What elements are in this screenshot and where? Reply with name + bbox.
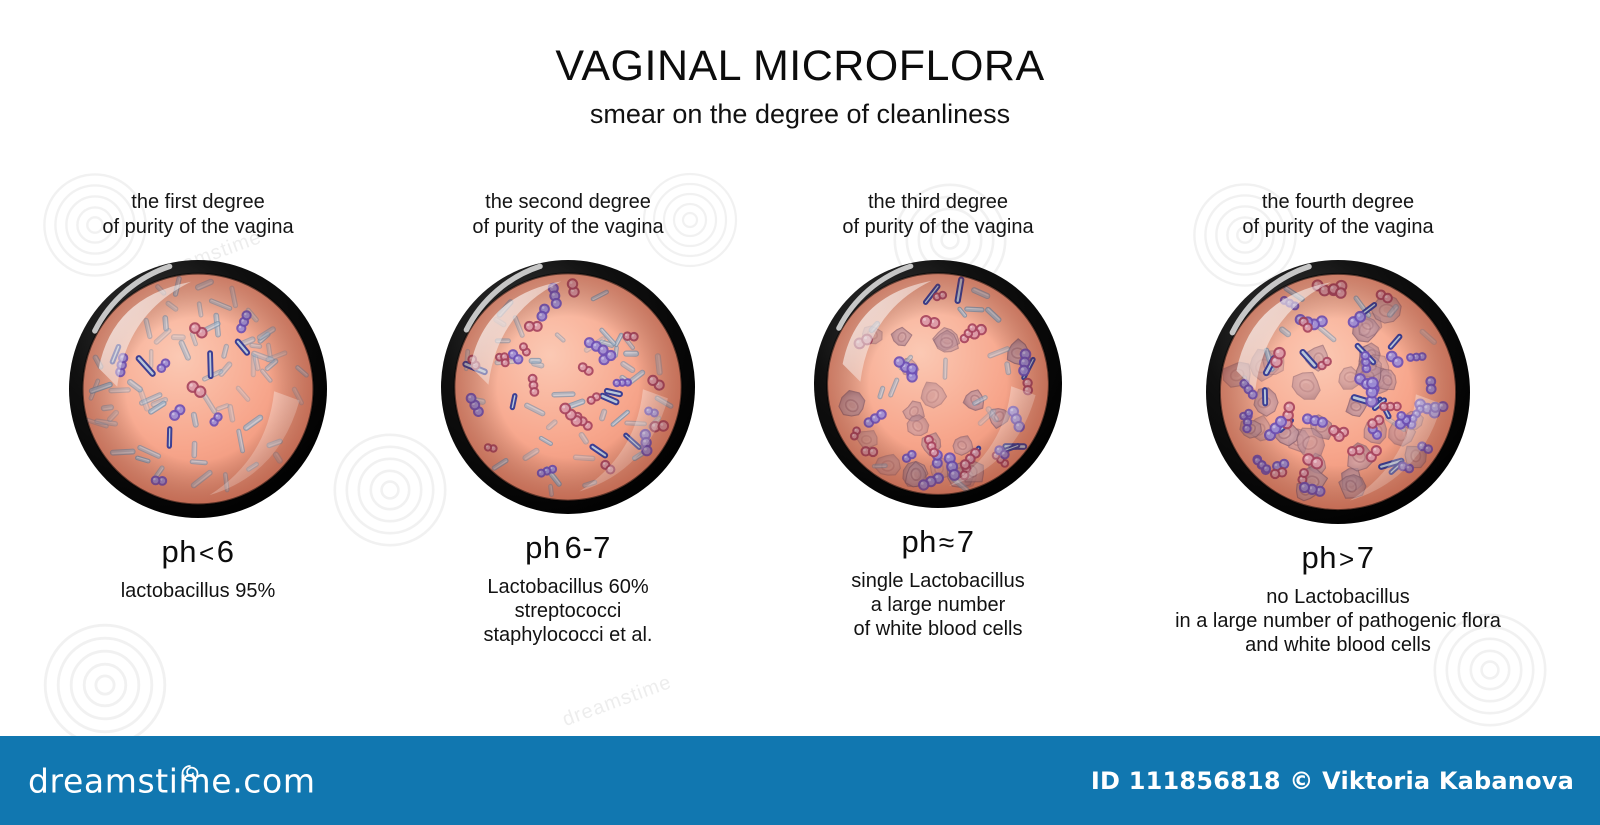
ph-value-line: ph < 6 (42, 534, 354, 570)
panel-third-degree: the third degree of purity of the vagina… (782, 190, 1094, 641)
ph-label: ph (1302, 540, 1337, 576)
page-title: VAGINAL MICROFLORA (0, 44, 1600, 89)
panel-heading-line1: the third degree (782, 190, 1094, 215)
panel-caption: single Lactobacillus a large number of w… (782, 569, 1094, 641)
panel-caption: lactobacillus 95% (42, 579, 354, 603)
ph-operator: < (199, 538, 215, 569)
panel-row: the first degree of purity of the vagina… (0, 190, 1600, 690)
caption-line: streptococci (412, 599, 724, 623)
ph-number: 7 (957, 524, 975, 560)
caption-line: Lactobacillus 60% (412, 575, 724, 599)
ph-value-line: ph > 7 (1150, 540, 1526, 576)
page-subtitle: smear on the degree of cleanliness (0, 99, 1600, 130)
title-block: VAGINAL MICROFLORA smear on the degree o… (0, 44, 1600, 130)
panel-heading-line1: the fourth degree (1150, 190, 1526, 215)
panel-first-degree: the first degree of purity of the vagina… (42, 190, 354, 603)
microscope-view-fourth-degree (1150, 258, 1526, 526)
caption-line: in a large number of pathogenic flora (1150, 609, 1526, 633)
ph-operator: ≈ (939, 527, 955, 559)
ph-label: ph (525, 530, 560, 566)
ph-number: 7 (1357, 540, 1375, 576)
ph-number: 6-7 (565, 530, 611, 566)
caption-line: of white blood cells (782, 617, 1094, 641)
ph-value-line: ph 6-7 (412, 530, 724, 566)
microscope-view-third-degree (782, 258, 1094, 510)
caption-line: single Lactobacillus (782, 569, 1094, 593)
caption-line: staphylococci et al. (412, 623, 724, 647)
caption-line: lactobacillus 95% (42, 579, 354, 603)
footer-bar: dreamstime.com ID 111856818 © Viktoria K… (0, 736, 1600, 825)
image-credit: ID 111856818 © Viktoria Kabanova (1091, 767, 1574, 795)
panel-heading-line2: of purity of the vagina (42, 215, 354, 240)
ph-value-line: ph ≈ 7 (782, 524, 1094, 560)
panel-heading-line2: of purity of the vagina (782, 215, 1094, 240)
panel-heading: the third degree of purity of the vagina (782, 190, 1094, 240)
panel-heading-line1: the second degree (412, 190, 724, 215)
panel-second-degree: the second degree of purity of the vagin… (412, 190, 724, 647)
ph-number: 6 (217, 534, 235, 570)
panel-caption: Lactobacillus 60% streptococci staphyloc… (412, 575, 724, 647)
spiral-logo-icon (180, 763, 200, 788)
panel-heading-line2: of purity of the vagina (1150, 215, 1526, 240)
microscope-view-first-degree (42, 258, 354, 520)
ph-label: ph (901, 524, 936, 560)
panel-heading-line2: of purity of the vagina (412, 215, 724, 240)
illustration-canvas: dreamstime dreamstime dreamstime VAGINAL… (0, 0, 1600, 825)
panel-caption: no Lactobacillus in a large number of pa… (1150, 585, 1526, 657)
ph-label: ph (162, 534, 197, 570)
brand-label: dreamstime.com (28, 761, 316, 800)
panel-heading: the fourth degree of purity of the vagin… (1150, 190, 1526, 240)
microscope-view-second-degree (412, 258, 724, 516)
ph-operator: > (1339, 544, 1355, 575)
caption-line: a large number (782, 593, 1094, 617)
caption-line: and white blood cells (1150, 633, 1526, 657)
dreamstime-logo[interactable]: dreamstime.com (28, 761, 316, 800)
panel-fourth-degree: the fourth degree of purity of the vagin… (1150, 190, 1526, 657)
panel-heading: the first degree of purity of the vagina (42, 190, 354, 240)
caption-line: no Lactobacillus (1150, 585, 1526, 609)
panel-heading-line1: the first degree (42, 190, 354, 215)
panel-heading: the second degree of purity of the vagin… (412, 190, 724, 240)
